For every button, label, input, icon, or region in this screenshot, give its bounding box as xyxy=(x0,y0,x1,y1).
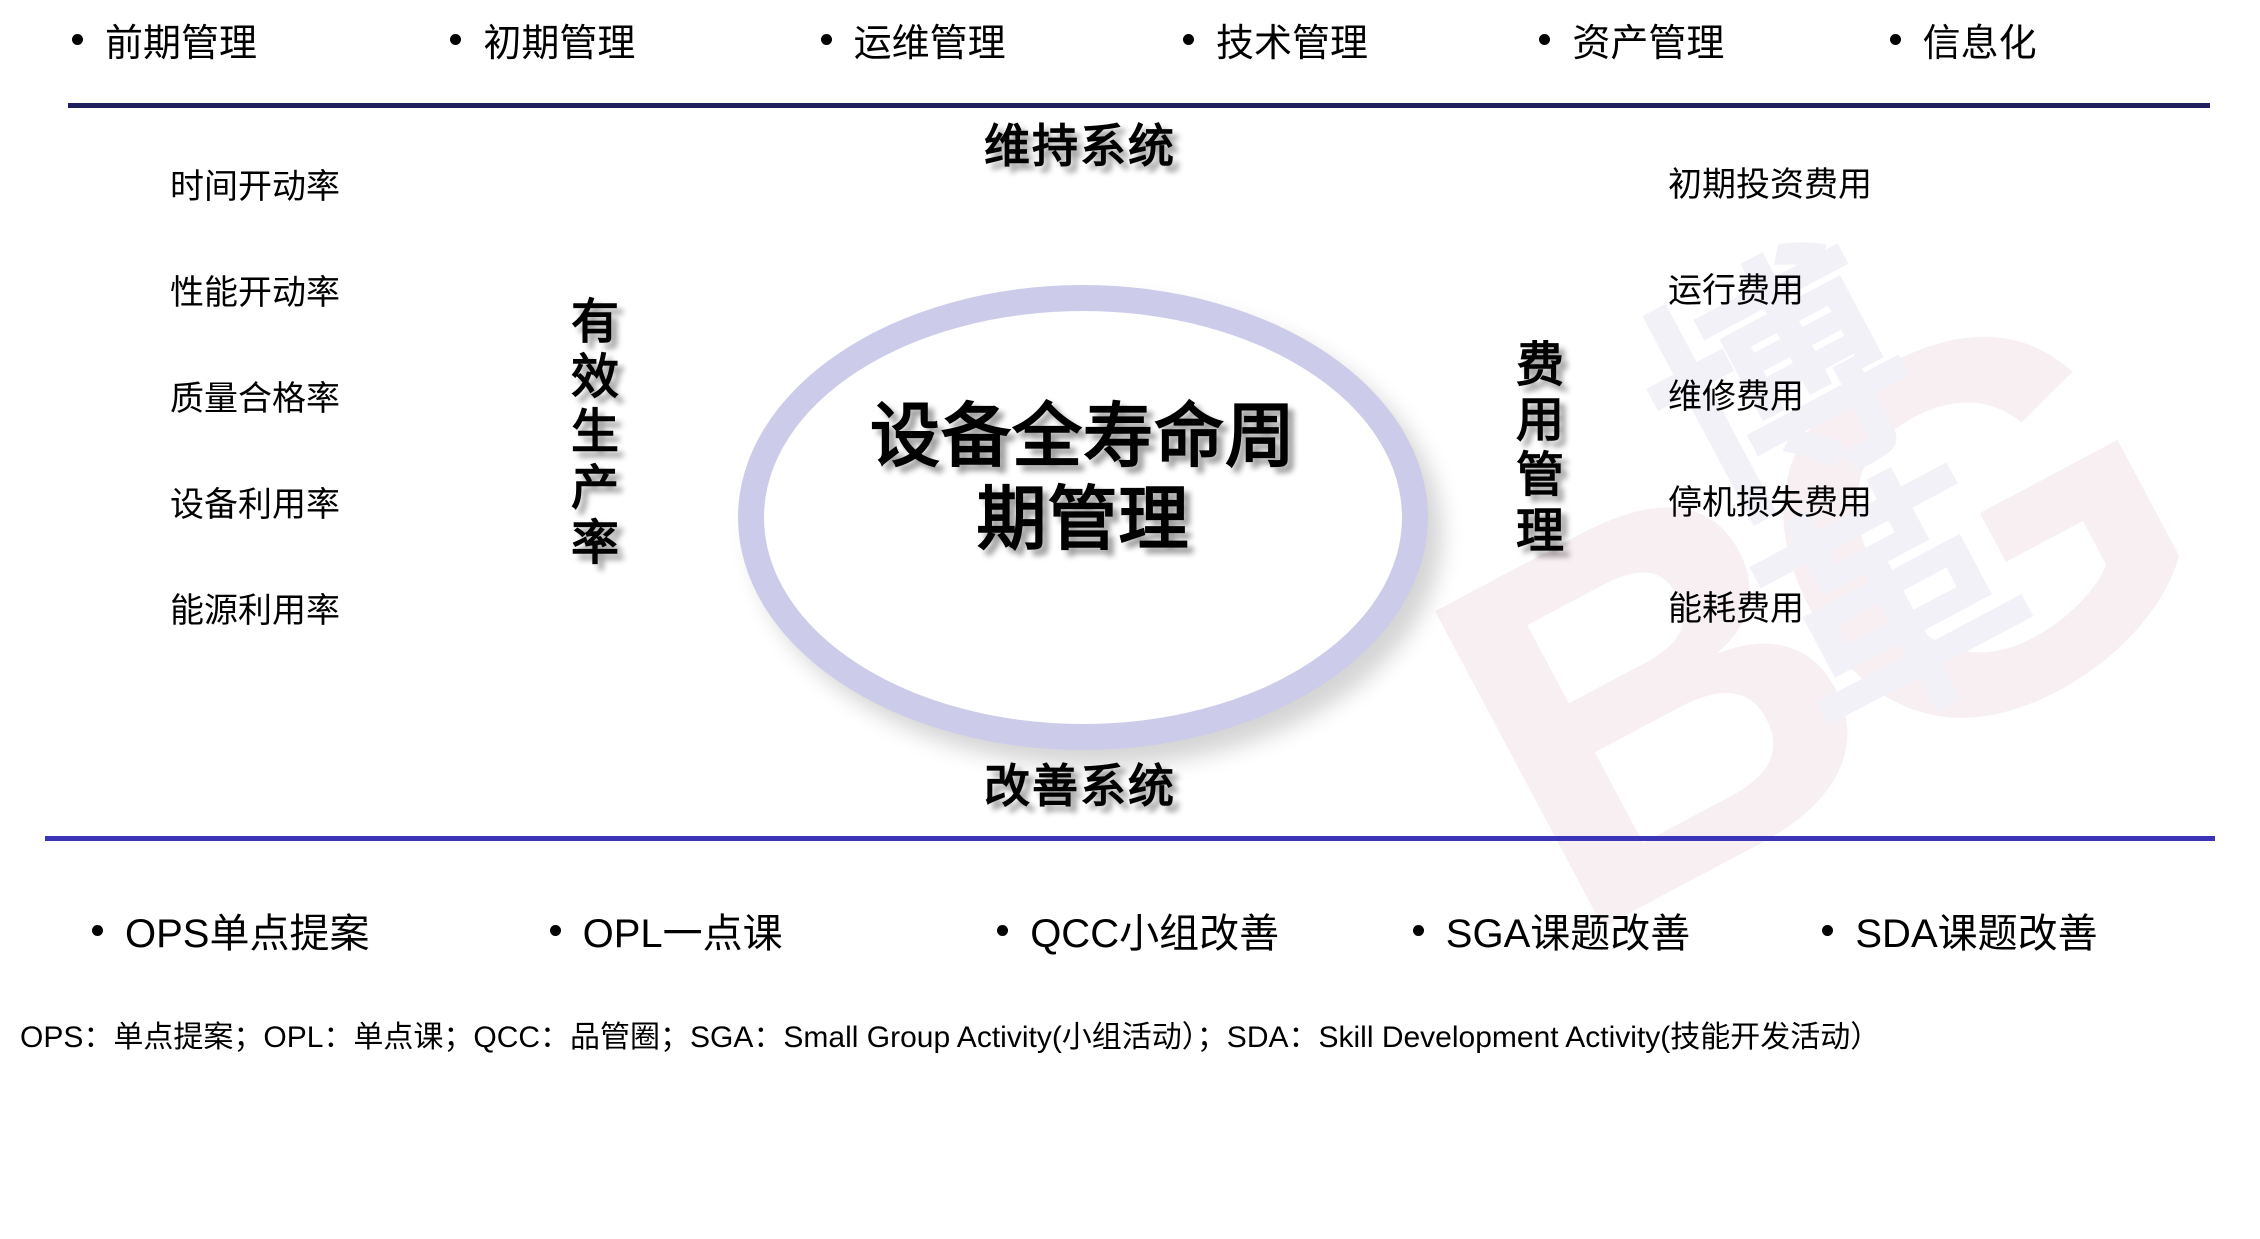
bottom-divider-line xyxy=(45,836,2215,841)
abbreviation-footnote: OPS：单点提案；OPL：单点课；QCC：品管圈；SGA：Small Group… xyxy=(20,1012,2250,1056)
vlabel-left-char: 生 xyxy=(565,405,625,460)
right-metric-item: 维修费用 xyxy=(1668,380,1804,414)
maintain-system-label: 维持系统 xyxy=(860,110,1300,176)
bullet-dot-icon xyxy=(997,925,1008,936)
bullet-dot-icon xyxy=(550,925,561,936)
bottom-bullet-item[interactable]: QCC小组改善 xyxy=(937,901,1385,959)
top-bullet-label: 运维管理 xyxy=(854,12,1006,67)
left-metric-item: 质量合格率 xyxy=(170,382,340,416)
vlabel-right-char: 理 xyxy=(1510,504,1570,559)
bottom-bullet-label: OPS单点提案 xyxy=(125,901,369,959)
core-title-line-1: 设备全寿命周 xyxy=(870,397,1296,475)
bullet-dot-icon xyxy=(450,34,461,45)
bottom-bullet-label: OPL一点课 xyxy=(583,901,783,959)
vlabel-right-char: 用 xyxy=(1510,393,1570,448)
bullet-dot-icon xyxy=(1890,34,1901,45)
bottom-bullet-row: OPS单点提案 OPL一点课 QCC小组改善 SGA课题改善 SDA课题改善 xyxy=(90,900,2210,960)
right-metric-item: 运行费用 xyxy=(1668,274,1804,308)
top-bullet-item[interactable]: 技术管理 xyxy=(1141,12,1503,67)
bottom-bullet-label: SDA课题改善 xyxy=(1855,901,2097,959)
top-bullet-item[interactable]: 资产管理 xyxy=(1503,12,1859,67)
left-metric-item: 性能开动率 xyxy=(170,276,340,310)
vlabel-left-char: 效 xyxy=(565,350,625,405)
bullet-dot-icon xyxy=(1183,34,1194,45)
right-metric-item: 停机损失费用 xyxy=(1668,486,1872,520)
top-bullet-label: 技术管理 xyxy=(1216,12,1368,67)
cost-management-vertical-label: 费 用 管 理 xyxy=(1510,338,1570,559)
top-bullet-item[interactable]: 前期管理 xyxy=(68,12,392,67)
left-metric-item: 设备利用率 xyxy=(170,488,340,522)
vlabel-right-char: 管 xyxy=(1510,448,1570,503)
top-bullet-row: 前期管理 初期管理 运维管理 技术管理 资产管理 信息化 xyxy=(68,8,2210,70)
bottom-bullet-item[interactable]: OPL一点课 xyxy=(480,901,938,959)
core-title-line-2: 期管理 xyxy=(977,480,1190,558)
bullet-dot-icon xyxy=(1822,925,1833,936)
top-divider-line xyxy=(68,103,2210,108)
bullet-dot-icon xyxy=(72,34,83,45)
left-metric-item: 时间开动率 xyxy=(170,170,340,204)
bullet-dot-icon xyxy=(1539,34,1550,45)
left-metric-item: 能源利用率 xyxy=(170,594,340,628)
diagram-stage: 维持系统 设备全寿命周 期管理 有 效 生 产 率 费 用 管 理 时间开动率 … xyxy=(0,110,2260,830)
right-metric-column: 初期投资费用 运行费用 维修费用 停机损失费用 能耗费用 xyxy=(1668,110,2008,710)
bottom-bullet-label: SGA课题改善 xyxy=(1446,901,1690,959)
bullet-dot-icon xyxy=(1413,925,1424,936)
top-bullet-label: 前期管理 xyxy=(105,12,257,67)
vlabel-right-char: 费 xyxy=(1510,338,1570,393)
vlabel-left-char: 产 xyxy=(565,461,625,516)
bullet-dot-icon xyxy=(821,34,832,45)
core-title: 设备全寿命周 期管理 xyxy=(770,395,1396,560)
vlabel-left-char: 有 xyxy=(565,295,625,350)
right-metric-item: 能耗费用 xyxy=(1668,592,1804,626)
left-metric-column: 时间开动率 性能开动率 质量合格率 设备利用率 能源利用率 xyxy=(170,110,500,710)
right-metric-item: 初期投资费用 xyxy=(1668,168,1872,202)
top-bullet-label: 信息化 xyxy=(1923,12,2037,67)
top-bullet-item[interactable]: 初期管理 xyxy=(392,12,770,67)
bullet-dot-icon xyxy=(92,925,103,936)
top-bullet-item[interactable]: 信息化 xyxy=(1860,12,2210,67)
vlabel-left-char: 率 xyxy=(565,516,625,571)
improve-system-label: 改善系统 xyxy=(860,750,1300,816)
top-bullet-label: 资产管理 xyxy=(1572,12,1724,67)
effective-productivity-vertical-label: 有 效 生 产 率 xyxy=(565,295,625,571)
bottom-bullet-item[interactable]: SGA课题改善 xyxy=(1385,901,1801,959)
bottom-bullet-item[interactable]: SDA课题改善 xyxy=(1800,901,2210,959)
bottom-bullet-item[interactable]: OPS单点提案 xyxy=(90,901,480,959)
bottom-bullet-label: QCC小组改善 xyxy=(1030,901,1279,959)
top-bullet-label: 初期管理 xyxy=(483,12,635,67)
top-bullet-item[interactable]: 运维管理 xyxy=(771,12,1141,67)
